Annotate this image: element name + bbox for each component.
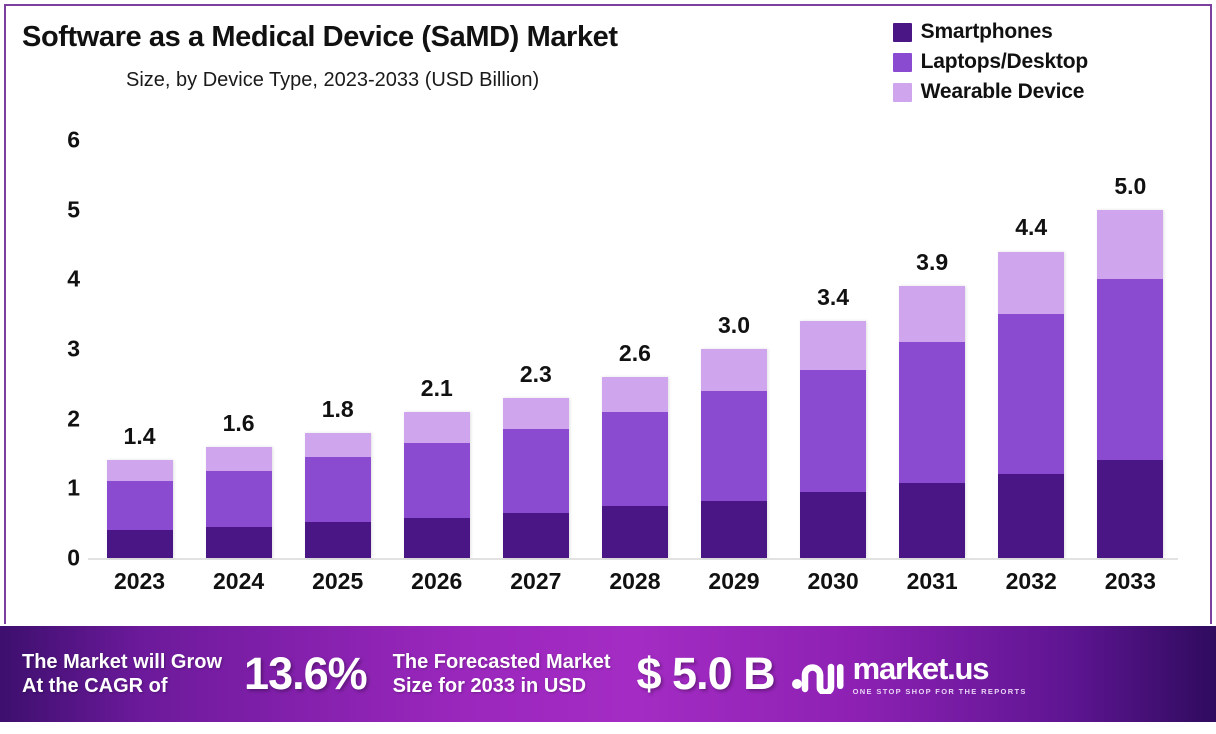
chart-page: Software as a Medical Device (SaMD) Mark… [0, 0, 1216, 734]
bar-stack[interactable] [899, 286, 965, 558]
x-axis-tick-label: 2030 [798, 568, 868, 608]
x-axis-tick-label: 2031 [897, 568, 967, 608]
x-axis-tick-label: 2028 [600, 568, 670, 608]
bar-segment-wearable-device [800, 321, 866, 370]
bar-total-label: 2.1 [421, 375, 453, 402]
forecast-caption-line2: Size for 2033 in USD [393, 675, 586, 697]
bar-segment-laptops-desktop [701, 391, 767, 501]
bar-segment-wearable-device [107, 460, 173, 481]
bar-stack[interactable] [404, 412, 470, 558]
bar-total-label: 2.6 [619, 340, 651, 367]
forecast-caption: The Forecasted Market Size for 2033 in U… [393, 650, 611, 699]
bar-segment-laptops-desktop [899, 342, 965, 483]
bar-segment-wearable-device [305, 433, 371, 457]
y-axis-tick-label: 3 [40, 336, 80, 363]
bar-segment-laptops-desktop [998, 314, 1064, 474]
bar-segment-wearable-device [998, 252, 1064, 315]
cagr-caption-line1: The Market will Grow [22, 651, 222, 673]
bottom-banner: The Market will Grow At the CAGR of 13.6… [0, 626, 1216, 722]
bar-segment-laptops-desktop [404, 443, 470, 518]
bar-stack[interactable] [701, 349, 767, 558]
x-axis-tick-label: 2023 [105, 568, 175, 608]
bar-total-label: 4.4 [1015, 214, 1047, 241]
bar-stack[interactable] [800, 321, 866, 558]
bar-segment-wearable-device [404, 412, 470, 443]
x-axis-tick-label: 2025 [303, 568, 373, 608]
bar-total-label: 2.3 [520, 361, 552, 388]
legend-item-label: Smartphones [921, 20, 1053, 44]
bar-total-label: 3.9 [916, 249, 948, 276]
bar-total-label: 5.0 [1114, 173, 1146, 200]
x-axis-tick-label: 2026 [402, 568, 472, 608]
market-us-logo-text: market.us ONE STOP SHOP FOR THE REPORTS [853, 653, 1027, 696]
bar-column[interactable]: 1.4 [105, 140, 175, 558]
y-axis-tick-label: 2 [40, 405, 80, 432]
y-axis-tick-label: 0 [40, 545, 80, 572]
legend-item-label: Wearable Device [921, 80, 1085, 104]
bar-total-label: 1.8 [322, 396, 354, 423]
bar-stack[interactable] [1097, 210, 1163, 558]
market-us-logo[interactable]: market.us ONE STOP SHOP FOR THE REPORTS [791, 653, 1027, 696]
cagr-caption: The Market will Grow At the CAGR of [22, 650, 222, 699]
x-axis-tick-label: 2024 [204, 568, 274, 608]
bar-segment-smartphones [800, 492, 866, 558]
bar-segment-laptops-desktop [206, 471, 272, 527]
y-axis-tick-label: 4 [40, 266, 80, 293]
bar-column[interactable]: 1.6 [204, 140, 274, 558]
forecast-value: $ 5.0 B [637, 648, 775, 700]
legend-item-wearable-device[interactable]: Wearable Device [893, 80, 1085, 104]
bar-segment-laptops-desktop [1097, 279, 1163, 460]
x-axis-tick-label: 2032 [996, 568, 1066, 608]
logo-tagline: ONE STOP SHOP FOR THE REPORTS [853, 687, 1027, 696]
bar-segment-laptops-desktop [107, 481, 173, 530]
forecast-caption-line1: The Forecasted Market [393, 651, 611, 673]
legend-swatch-icon [893, 23, 912, 42]
bar-column[interactable]: 2.1 [402, 140, 472, 558]
bar-segment-smartphones [107, 530, 173, 558]
bar-segment-wearable-device [602, 377, 668, 412]
bar-stack[interactable] [206, 447, 272, 558]
x-axis-baseline [88, 558, 1178, 560]
legend-item-laptops-desktop[interactable]: Laptops/Desktop [893, 50, 1088, 74]
chart-subtitle: Size, by Device Type, 2023-2033 (USD Bil… [126, 69, 822, 92]
x-axis-tick-label: 2027 [501, 568, 571, 608]
page-title: Software as a Medical Device (SaMD) Mark… [22, 22, 822, 53]
bar-segment-smartphones [404, 518, 470, 558]
bar-segment-wearable-device [503, 398, 569, 429]
x-axis: 2023202420252026202720282029203020312032… [90, 568, 1180, 608]
bar-segment-smartphones [602, 506, 668, 558]
cagr-value: 13.6% [244, 648, 367, 700]
bar-segment-laptops-desktop [800, 370, 866, 492]
y-axis-tick-label: 1 [40, 475, 80, 502]
x-axis-tick-label: 2029 [699, 568, 769, 608]
bar-column[interactable]: 3.4 [798, 140, 868, 558]
bar-segment-wearable-device [701, 349, 767, 391]
cagr-caption-line2: At the CAGR of [22, 675, 168, 697]
bar-total-label: 3.4 [817, 284, 849, 311]
bar-stack[interactable] [998, 252, 1064, 559]
bar-column[interactable]: 3.9 [897, 140, 967, 558]
bar-column[interactable]: 2.3 [501, 140, 571, 558]
y-axis-tick-label: 5 [40, 196, 80, 223]
bar-stack[interactable] [107, 460, 173, 558]
chart-legend: SmartphonesLaptops/DesktopWearable Devic… [893, 20, 1088, 104]
bar-segment-laptops-desktop [602, 412, 668, 507]
legend-item-label: Laptops/Desktop [921, 50, 1088, 74]
y-axis-tick-label: 6 [40, 127, 80, 154]
bar-column[interactable]: 1.8 [303, 140, 373, 558]
bar-segment-wearable-device [1097, 210, 1163, 280]
bar-stack[interactable] [602, 377, 668, 558]
y-axis: 0123456 [40, 140, 80, 560]
bar-column[interactable]: 4.4 [996, 140, 1066, 558]
x-axis-tick-label: 2033 [1095, 568, 1165, 608]
legend-item-smartphones[interactable]: Smartphones [893, 20, 1053, 44]
bar-column[interactable]: 5.0 [1095, 140, 1165, 558]
bar-segment-smartphones [998, 474, 1064, 558]
bar-segment-wearable-device [899, 286, 965, 342]
bar-stack[interactable] [305, 433, 371, 558]
legend-swatch-icon [893, 53, 912, 72]
bar-segment-laptops-desktop [503, 429, 569, 513]
bar-segment-wearable-device [206, 447, 272, 471]
legend-swatch-icon [893, 83, 912, 102]
bar-column[interactable]: 2.6 [600, 140, 670, 558]
bar-total-label: 3.0 [718, 312, 750, 339]
bar-segment-smartphones [701, 501, 767, 558]
bar-stack[interactable] [503, 398, 569, 558]
bar-total-label: 1.4 [124, 423, 156, 450]
bar-total-label: 1.6 [223, 410, 255, 437]
bar-segment-smartphones [503, 513, 569, 558]
bar-series-group: 1.41.61.82.12.32.63.03.43.94.45.0 [90, 140, 1180, 558]
bar-segment-smartphones [206, 527, 272, 558]
bar-column[interactable]: 3.0 [699, 140, 769, 558]
market-us-logo-icon [791, 654, 845, 694]
bar-segment-smartphones [1097, 460, 1163, 558]
bar-segment-smartphones [899, 483, 965, 558]
logo-name: market.us [853, 653, 1027, 684]
chart-header: Software as a Medical Device (SaMD) Mark… [22, 22, 822, 92]
bar-segment-smartphones [305, 522, 371, 558]
bar-segment-laptops-desktop [305, 457, 371, 522]
